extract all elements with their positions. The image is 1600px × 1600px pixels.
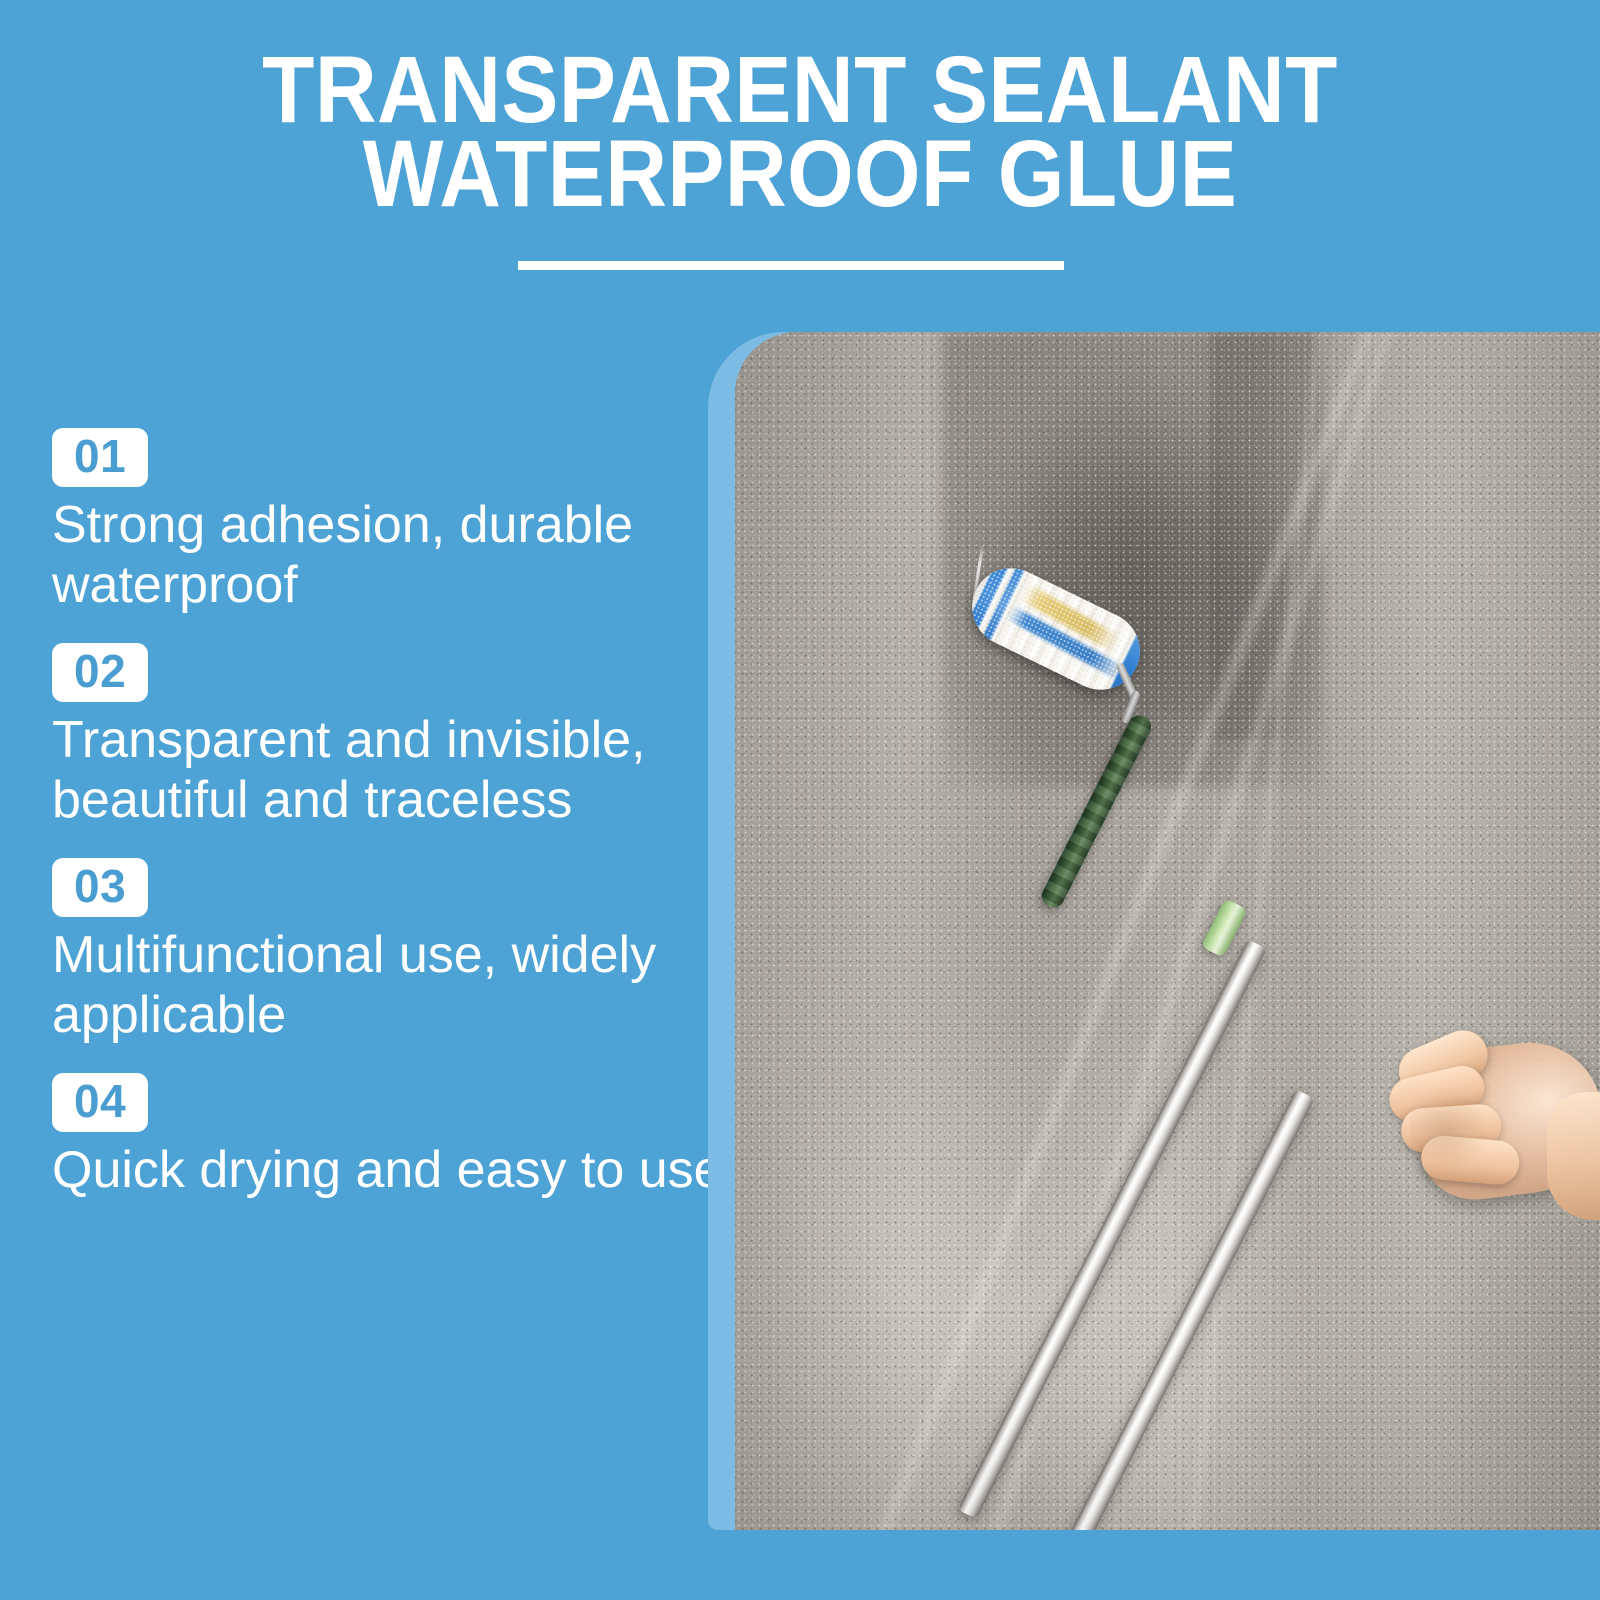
feature-text-02: Transparent and invisible, beautiful and… [52, 710, 652, 830]
feature-item-02: 02 Transparent and invisible, beautiful … [52, 643, 712, 830]
photo-vignette [735, 332, 1600, 1530]
product-demo-photo [735, 332, 1600, 1530]
feature-list: 01 Strong adhesion, durable waterproof 0… [52, 428, 712, 1200]
feature-text-01: Strong adhesion, durable waterproof [52, 495, 642, 615]
feature-number-04: 04 [74, 1077, 126, 1125]
feature-item-01: 01 Strong adhesion, durable waterproof [52, 428, 712, 615]
page-title: TRANSPARENT SEALANT WATERPROOF GLUE [0, 48, 1600, 216]
title-line-1: TRANSPARENT SEALANT [80, 48, 1520, 132]
title-underline-rule [518, 261, 1064, 270]
feature-number-badge-02: 02 [52, 643, 148, 702]
feature-number-01: 01 [74, 432, 126, 480]
title-line-2: WATERPROOF GLUE [80, 132, 1520, 216]
feature-number-03: 03 [74, 862, 126, 910]
feature-number-badge-04: 04 [52, 1073, 148, 1132]
feature-number-badge-01: 01 [52, 428, 148, 487]
feature-item-04: 04 Quick drying and easy to use [52, 1073, 712, 1200]
feature-text-03: Multifunctional use, widely applicable [52, 925, 677, 1045]
feature-item-03: 03 Multifunctional use, widely applicabl… [52, 858, 712, 1045]
feature-number-badge-03: 03 [52, 858, 148, 917]
feature-text-04: Quick drying and easy to use [52, 1140, 712, 1200]
feature-number-02: 02 [74, 647, 126, 695]
